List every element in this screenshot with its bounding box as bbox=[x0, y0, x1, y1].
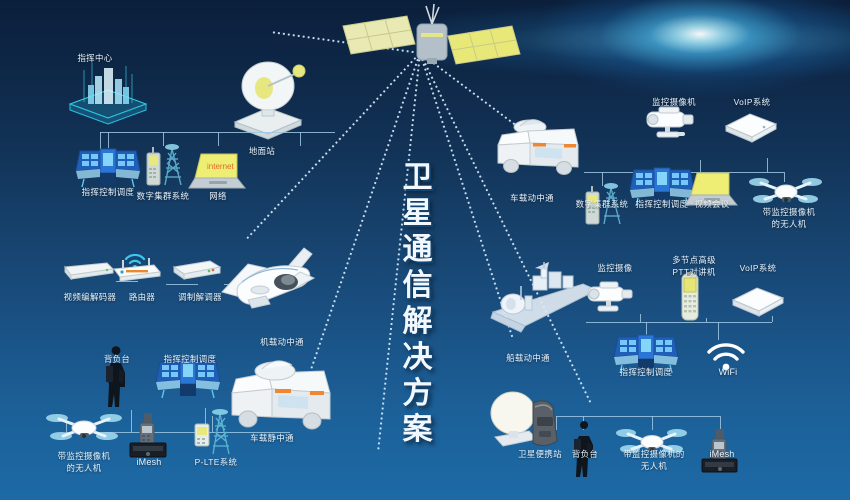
title-char-7: 案 bbox=[390, 412, 446, 448]
label-br-node-1: 带监控摄像机的 无人机 bbox=[606, 448, 702, 472]
drop-mr-ptt bbox=[706, 318, 707, 322]
drop-br-term bbox=[556, 416, 557, 430]
drop-mr-cam bbox=[640, 314, 641, 322]
label-vehicle-static-satcom: 车载静中通 bbox=[234, 432, 310, 444]
satellite-communication-solution-poster: 指挥中心 地面站 bbox=[0, 0, 850, 500]
label-bl-lower-1: iMesh bbox=[119, 456, 179, 468]
ground-station-dish bbox=[223, 58, 313, 142]
ptt-handset-icon bbox=[674, 272, 706, 324]
chain-line-1 bbox=[166, 284, 198, 285]
label-tr-lower-2: 视频会议 bbox=[682, 198, 742, 210]
chain-line-0 bbox=[116, 281, 138, 282]
label-tr-upper-0: 监控摄像机 bbox=[636, 96, 712, 108]
title-char-0: 卫 bbox=[390, 160, 446, 196]
title-char-3: 信 bbox=[390, 268, 446, 304]
label-airborne-sotm: 机载动中通 bbox=[244, 336, 320, 348]
drop-mr-1 bbox=[718, 322, 719, 340]
drop-mr-voip bbox=[772, 316, 773, 322]
title-char-2: 通 bbox=[390, 232, 446, 268]
vehicle-mobile-satcom-truck bbox=[490, 117, 586, 183]
label-mr-upper-1: 多节点高级 PTT对讲机 bbox=[654, 254, 734, 278]
label-mr-upper-0: 监控摄像 bbox=[577, 262, 653, 274]
drop-tl-2 bbox=[218, 132, 219, 146]
label-mr-upper-2: VoIP系统 bbox=[723, 262, 793, 274]
title-char-5: 决 bbox=[390, 340, 446, 376]
label-tr-upper-1: VoIP系统 bbox=[717, 96, 787, 108]
voip-gateway-icon bbox=[727, 284, 789, 320]
label-command-center: 指挥中心 bbox=[60, 52, 130, 64]
label-mr-lower-1: WiFi bbox=[698, 366, 758, 378]
title-char-4: 解 bbox=[390, 304, 446, 340]
cctv-camera-icon bbox=[582, 279, 644, 317]
plte-system-icon bbox=[187, 404, 241, 460]
satellite-left-panel bbox=[343, 16, 415, 54]
satellite-right-panel bbox=[448, 26, 520, 64]
imesh-radio-icon bbox=[126, 409, 170, 461]
label-vehicle-mobile-satcom: 车载动中通 bbox=[494, 192, 570, 204]
laptop-internet-icon: internet bbox=[187, 150, 249, 194]
label-ship-sotm: 船载动中通 bbox=[490, 352, 566, 364]
trunking-radio-tower-icon bbox=[138, 139, 188, 191]
bus-mid-right bbox=[586, 322, 772, 323]
camera-drone-icon bbox=[45, 408, 123, 448]
label-ml-chain-1: 路由器 bbox=[112, 291, 172, 303]
wifi-router-icon bbox=[106, 245, 164, 285]
drop-tl-gw bbox=[300, 132, 301, 146]
voip-gateway-icon bbox=[720, 110, 782, 146]
label-br-node-2: iMesh bbox=[692, 448, 752, 460]
title-char-6: 方 bbox=[390, 376, 446, 412]
command-console-icon bbox=[70, 145, 146, 189]
label-bl-lower-0: 带监控摄像机 的无人机 bbox=[39, 450, 129, 474]
label-tr-lower-3: 带监控摄像机 的无人机 bbox=[743, 206, 835, 230]
satellite-body bbox=[417, 4, 447, 64]
label-bl-lower-2: P-LTE系统 bbox=[181, 456, 251, 468]
cctv-camera-icon bbox=[639, 104, 705, 144]
label-bl-upper-1: 指挥控制调度 bbox=[152, 353, 228, 365]
svg-text:internet: internet bbox=[207, 162, 234, 171]
label-mr-lower-0: 指挥控制调度 bbox=[608, 366, 684, 378]
bus-bottom-right bbox=[556, 416, 720, 417]
label-tl-node-2: 网络 bbox=[188, 190, 248, 202]
drop-tr-voip bbox=[767, 158, 768, 172]
command-center-hologram bbox=[62, 58, 154, 132]
airborne-sotm-jet bbox=[208, 234, 328, 326]
label-bl-upper-0: 背负台 bbox=[87, 353, 147, 365]
title-char-1: 星 bbox=[390, 196, 446, 232]
page-title: 卫 星 通 信 解 决 方 案 bbox=[390, 160, 446, 448]
satellite bbox=[335, 0, 525, 80]
